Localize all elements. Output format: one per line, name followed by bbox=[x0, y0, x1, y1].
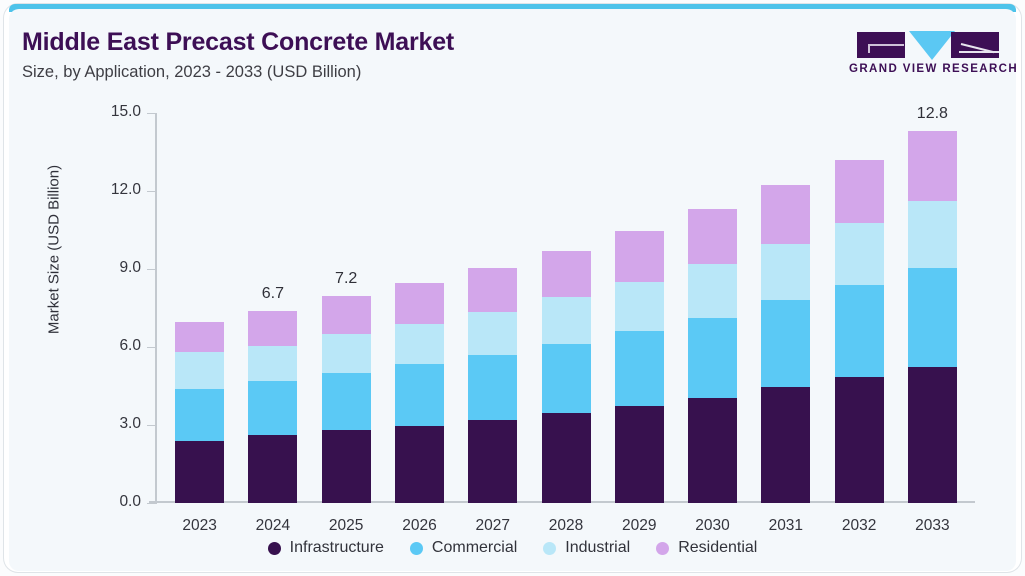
y-axis-line bbox=[155, 113, 157, 503]
legend-label: Residential bbox=[678, 539, 757, 557]
bar-segment-industrial[interactable] bbox=[835, 223, 884, 285]
bar-segment-commercial[interactable] bbox=[395, 364, 444, 426]
bar-segment-residential[interactable] bbox=[395, 283, 444, 324]
bar-stack bbox=[835, 160, 884, 503]
chart-axes: 0.03.06.09.012.015.0 20236.720247.220252… bbox=[155, 104, 975, 503]
bar-segment-infrastructure[interactable] bbox=[688, 398, 737, 503]
x-axis-tick-label: 2026 bbox=[402, 517, 436, 535]
x-axis-tick-label: 2024 bbox=[256, 517, 290, 535]
bar-segment-residential[interactable] bbox=[248, 311, 297, 345]
bar-stack bbox=[615, 231, 664, 503]
bar-segment-infrastructure[interactable] bbox=[835, 377, 884, 503]
bar-group[interactable]: 2029 bbox=[615, 113, 664, 503]
x-axis-tick-label: 2023 bbox=[182, 517, 216, 535]
x-axis-tick-label: 2030 bbox=[695, 517, 729, 535]
y-axis-tick bbox=[147, 425, 157, 426]
y-axis-tick-label: 12.0 bbox=[77, 181, 141, 199]
bar-segment-residential[interactable] bbox=[542, 251, 591, 298]
bar-segment-infrastructure[interactable] bbox=[908, 367, 957, 504]
legend-swatch-icon bbox=[410, 542, 423, 555]
bar-segment-infrastructure[interactable] bbox=[322, 430, 371, 503]
bar-group[interactable]: 2032 bbox=[835, 113, 884, 503]
bar-segment-residential[interactable] bbox=[908, 131, 957, 201]
x-axis-tick-label: 2029 bbox=[622, 517, 656, 535]
legend-item-industrial[interactable]: Industrial bbox=[543, 539, 630, 557]
y-axis-tick bbox=[147, 113, 157, 114]
chart-plot-area: Market Size (USD Billion) 0.03.06.09.012… bbox=[9, 9, 1016, 571]
y-axis-tick-labels: 0.03.06.09.012.015.0 bbox=[77, 113, 141, 503]
bar-stack bbox=[688, 209, 737, 503]
legend-item-commercial[interactable]: Commercial bbox=[410, 539, 517, 557]
legend-label: Commercial bbox=[432, 539, 517, 557]
bar-segment-residential[interactable] bbox=[322, 296, 371, 334]
bar-segment-industrial[interactable] bbox=[395, 324, 444, 364]
bar-stack bbox=[761, 185, 810, 503]
bar-segment-industrial[interactable] bbox=[615, 282, 664, 331]
legend-label: Infrastructure bbox=[290, 539, 384, 557]
bar-group[interactable]: 6.72024 bbox=[248, 113, 297, 503]
legend-item-residential[interactable]: Residential bbox=[656, 539, 757, 557]
legend-swatch-icon bbox=[543, 542, 556, 555]
bar-segment-residential[interactable] bbox=[761, 185, 810, 244]
bar-segment-residential[interactable] bbox=[615, 231, 664, 282]
bar-segment-commercial[interactable] bbox=[835, 285, 884, 377]
bar-segment-commercial[interactable] bbox=[175, 389, 224, 441]
bar-value-label: 6.7 bbox=[262, 285, 284, 303]
bar-segment-infrastructure[interactable] bbox=[395, 426, 444, 503]
y-axis-tick-label: 0.0 bbox=[77, 493, 141, 511]
bar-group[interactable]: 2026 bbox=[395, 113, 444, 503]
y-axis-tick-label: 9.0 bbox=[77, 259, 141, 277]
bar-segment-infrastructure[interactable] bbox=[761, 387, 810, 503]
x-axis-tick-label: 2032 bbox=[842, 517, 876, 535]
bar-stack bbox=[908, 131, 957, 503]
bar-group[interactable]: 7.22025 bbox=[322, 113, 371, 503]
bar-segment-industrial[interactable] bbox=[468, 312, 517, 355]
bar-segment-infrastructure[interactable] bbox=[248, 435, 297, 503]
y-axis-tick bbox=[147, 269, 157, 270]
bar-stack bbox=[322, 296, 371, 503]
bar-group[interactable]: 2023 bbox=[175, 113, 224, 503]
x-axis-tick-label: 2033 bbox=[915, 517, 949, 535]
bar-segment-commercial[interactable] bbox=[688, 318, 737, 398]
bar-segment-commercial[interactable] bbox=[468, 355, 517, 421]
bar-segment-industrial[interactable] bbox=[908, 201, 957, 268]
bar-value-label: 12.8 bbox=[917, 105, 948, 123]
bar-group[interactable]: 2028 bbox=[542, 113, 591, 503]
bar-stack bbox=[395, 283, 444, 503]
bar-segment-industrial[interactable] bbox=[761, 244, 810, 301]
y-axis-tick-label: 6.0 bbox=[77, 337, 141, 355]
bar-segment-industrial[interactable] bbox=[542, 297, 591, 343]
bar-group[interactable]: 2031 bbox=[761, 113, 810, 503]
bar-segment-industrial[interactable] bbox=[175, 352, 224, 388]
legend-label: Industrial bbox=[565, 539, 630, 557]
bar-segment-commercial[interactable] bbox=[761, 300, 810, 387]
y-axis-tick bbox=[147, 503, 157, 504]
x-axis-tick-label: 2025 bbox=[329, 517, 363, 535]
bar-stack bbox=[468, 268, 517, 503]
legend-item-infrastructure[interactable]: Infrastructure bbox=[268, 539, 384, 557]
bar-series-container: 20236.720247.220252026202720282029203020… bbox=[163, 113, 969, 503]
chart-card: Middle East Precast Concrete Market Size… bbox=[9, 9, 1016, 571]
bar-stack bbox=[248, 311, 297, 503]
bar-group[interactable]: 2030 bbox=[688, 113, 737, 503]
bar-segment-commercial[interactable] bbox=[248, 381, 297, 436]
y-axis-tick bbox=[147, 347, 157, 348]
bar-segment-commercial[interactable] bbox=[542, 344, 591, 414]
bar-segment-infrastructure[interactable] bbox=[175, 441, 224, 503]
bar-segment-residential[interactable] bbox=[468, 268, 517, 312]
screenshot-root: Middle East Precast Concrete Market Size… bbox=[0, 0, 1025, 576]
bar-stack bbox=[175, 322, 224, 503]
bar-segment-infrastructure[interactable] bbox=[542, 413, 591, 503]
bar-segment-industrial[interactable] bbox=[248, 346, 297, 381]
bar-segment-residential[interactable] bbox=[175, 322, 224, 353]
bar-segment-residential[interactable] bbox=[688, 209, 737, 264]
bar-segment-industrial[interactable] bbox=[322, 334, 371, 373]
bar-segment-commercial[interactable] bbox=[322, 373, 371, 430]
y-axis-tick-label: 15.0 bbox=[77, 103, 141, 121]
chart-legend: InfrastructureCommercialIndustrialReside… bbox=[9, 539, 1016, 557]
bar-stack bbox=[542, 251, 591, 503]
y-axis-tick bbox=[147, 191, 157, 192]
y-axis-title: Market Size (USD Billion) bbox=[46, 100, 63, 400]
bar-segment-infrastructure[interactable] bbox=[468, 420, 517, 503]
bar-segment-industrial[interactable] bbox=[688, 264, 737, 318]
bar-segment-commercial[interactable] bbox=[908, 268, 957, 366]
legend-swatch-icon bbox=[268, 542, 281, 555]
x-axis-tick-label: 2027 bbox=[475, 517, 509, 535]
bar-value-label: 7.2 bbox=[335, 270, 357, 288]
bar-segment-residential[interactable] bbox=[835, 160, 884, 222]
x-axis-tick-label: 2028 bbox=[549, 517, 583, 535]
legend-swatch-icon bbox=[656, 542, 669, 555]
bar-segment-commercial[interactable] bbox=[615, 331, 664, 406]
x-axis-tick-label: 2031 bbox=[769, 517, 803, 535]
bar-group[interactable]: 12.82033 bbox=[908, 113, 957, 503]
y-axis-tick-label: 3.0 bbox=[77, 415, 141, 433]
bar-group[interactable]: 2027 bbox=[468, 113, 517, 503]
bar-segment-infrastructure[interactable] bbox=[615, 406, 664, 504]
